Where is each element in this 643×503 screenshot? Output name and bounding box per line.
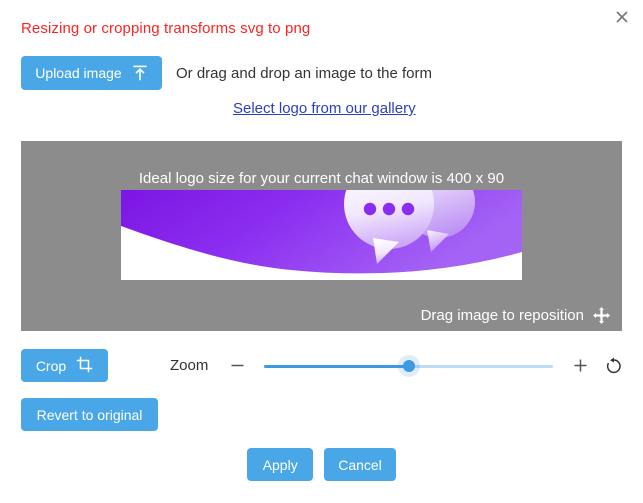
cancel-button[interactable]: Cancel [324,448,396,481]
dialog-footer: Apply Cancel [0,448,643,481]
zoom-slider[interactable] [264,355,553,377]
image-preview-stage[interactable]: Ideal logo size for your current chat wi… [21,141,622,331]
ideal-logo-size-hint: Ideal logo size for your current chat wi… [21,170,622,187]
reposition-hint-label: Drag image to reposition [421,307,584,324]
logo-image[interactable] [121,190,522,280]
minus-icon[interactable] [226,355,248,377]
zoom-slider-thumb[interactable] [403,360,415,372]
upload-arrow-icon [132,64,148,83]
zoom-control-row: Zoom [170,349,625,382]
apply-button[interactable]: Apply [247,448,313,481]
reset-rotate-ccw-icon[interactable] [601,354,625,378]
drag-to-reposition-hint: Drag image to reposition [421,307,610,324]
close-dialog-button[interactable] [609,4,635,30]
upload-image-label: Upload image [35,66,121,80]
crop-button[interactable]: Crop [21,349,108,382]
move-arrows-icon [593,307,610,324]
close-icon [614,9,630,25]
crop-icon [76,356,93,375]
zoom-slider-fill [264,365,408,368]
select-logo-gallery-link[interactable]: Select logo from our gallery [233,100,416,117]
revert-to-original-button[interactable]: Revert to original [21,398,158,431]
plus-icon[interactable] [569,355,591,377]
crop-button-label: Crop [36,359,66,373]
upload-image-button[interactable]: Upload image [21,56,162,90]
drag-and-drop-text: Or drag and drop an image to the form [176,65,432,82]
zoom-label: Zoom [170,357,208,374]
warning-message: Resizing or cropping transforms svg to p… [21,20,310,37]
revert-button-label: Revert to original [37,408,143,422]
